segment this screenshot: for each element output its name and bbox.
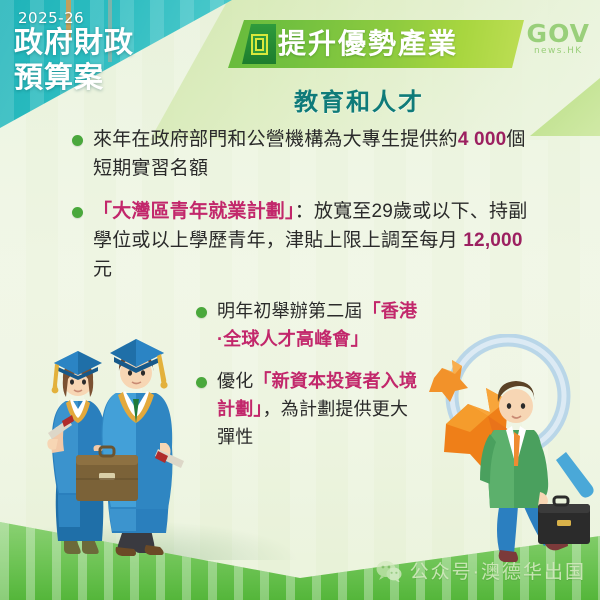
bullet-item-internship-quota: 來年在政府部門和公營機構為大專生提供約4 000個短期實習名額 xyxy=(0,126,600,184)
logo-primary-text: GOV xyxy=(527,22,590,46)
govnews-logo: GOV news.HK xyxy=(527,22,590,57)
bullet-text: 「大灣區青年就業計劃」：放寬至29歲或以下、持副學位或以上學歷青年，津貼上限上調… xyxy=(93,198,540,285)
watermark: 公众号·澳德华出国 xyxy=(376,557,586,584)
bullet-dot-icon xyxy=(196,307,207,318)
logo-secondary-text: news.HK xyxy=(527,46,590,57)
bullet-item-gba-youth-employment: 「大灣區青年就業計劃」：放寬至29歲或以下、持副學位或以上學歷青年，津貼上限上調… xyxy=(0,198,600,285)
section-subtitle: 教育和人才 xyxy=(0,82,600,117)
bullet-segment-number: 12,000 xyxy=(463,230,522,251)
graduates-illustration xyxy=(6,327,196,562)
watermark-text: 公众号·澳德华出国 xyxy=(410,557,586,584)
bullet-segment-plain: 元 xyxy=(93,259,112,280)
bullet-segment-highlight: 「大灣區青年就業計劃」 xyxy=(93,201,295,222)
businessman-magnifier-illustration xyxy=(416,334,596,564)
page-title-line-1: 政府財政 xyxy=(14,26,134,61)
bullet-text: 來年在政府部門和公營機構為大專生提供約4 000個短期實習名額 xyxy=(93,126,540,184)
bullet-dot-icon xyxy=(72,135,83,146)
graduate-female xyxy=(47,351,106,554)
budget-year: 2025-26 xyxy=(18,9,84,27)
bullet-text: 明年初舉辦第二屆「香港·全球人才高峰會」 xyxy=(217,298,420,354)
bullet-segment-plain: 明年初舉辦第二屆 xyxy=(217,301,363,321)
infographic-canvas: 2025-26 政府財政 預算案 提升優勢產業 GOV news.HK 教育和人… xyxy=(0,0,600,600)
briefcase-dark-icon xyxy=(538,497,590,544)
bullet-segment-plain: 來年在政府部門和公營機構為大專生提供約 xyxy=(93,129,458,150)
bullet-dot-icon xyxy=(72,207,83,218)
bullet-segment-number: 4 000 xyxy=(458,129,507,150)
wechat-icon xyxy=(376,560,402,582)
bullet-segment-plain: 優化 xyxy=(217,371,253,391)
bullet-text: 優化「新資本投資者入境計劃」，為計劃提供更大彈性 xyxy=(217,368,420,452)
section-banner-title: 提升優勢產業 xyxy=(278,24,518,64)
bullet-dot-icon xyxy=(196,377,207,388)
